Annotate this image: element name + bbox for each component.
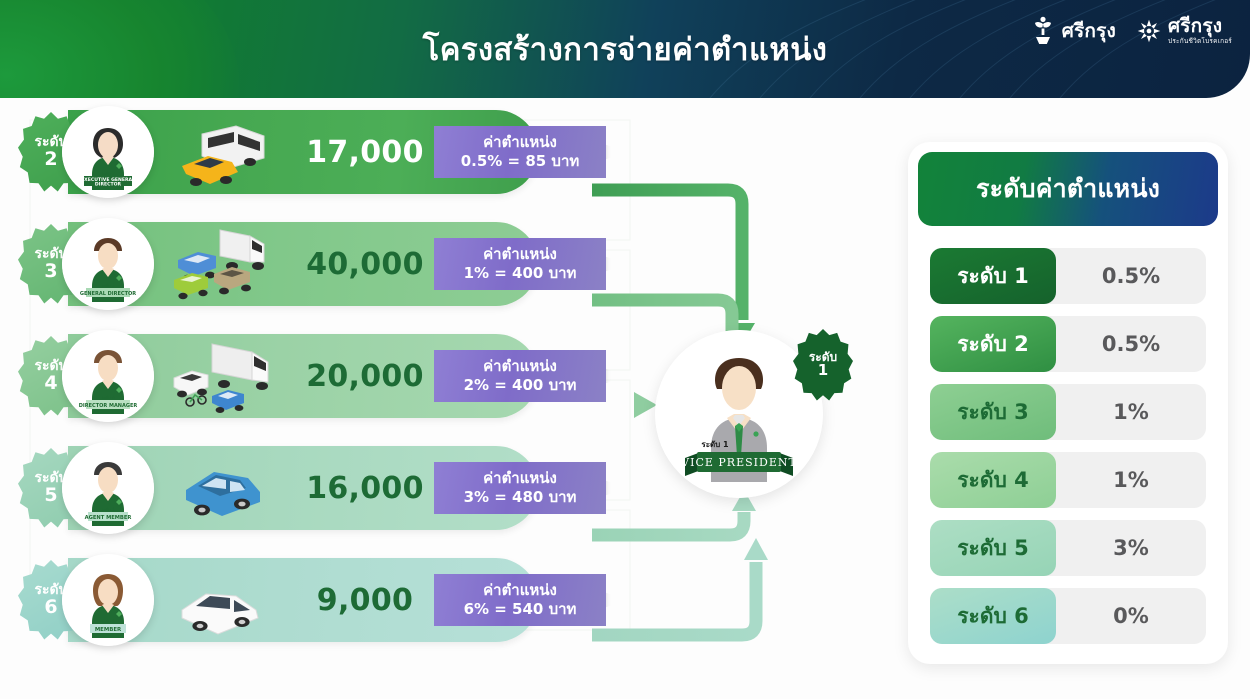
logo-subtitle: ประกันชีวิตโบรคเกอร์	[1168, 38, 1232, 45]
svg-text:DIRECTOR MANAGER: DIRECTOR MANAGER	[79, 403, 138, 409]
amount-value: 17,000	[290, 106, 440, 198]
fee-label: ค่าตำแหน่ง	[483, 357, 557, 376]
avatar-female-icon: ระดับ 6 MEMBER	[62, 554, 154, 646]
fee-value: 6% = 540 บาท	[464, 600, 577, 619]
logo-srikrung-broker: ศรีกรุง ประกันชีวิตโบรคเกอร์	[1136, 16, 1232, 46]
avatar: ระดับ 4 DIRECTOR MANAGER	[62, 330, 154, 422]
percent-value: 3%	[1056, 536, 1206, 560]
table-row[interactable]: ระดับ 4 1%	[930, 452, 1206, 508]
level-pill-label: ระดับ 3	[957, 396, 1028, 429]
avatar: ระดับ 2 EXECUTIVE GENERAL DIRECTOR	[62, 106, 154, 198]
avatar-male-icon: ระดับ 3 GENERAL DIRECTOR	[62, 218, 154, 310]
logo-name: ศรีกรุง	[1062, 22, 1116, 41]
fee-value: 3% = 480 บาท	[464, 488, 577, 507]
percent-value: 0.5%	[1056, 264, 1206, 288]
svg-text:ระดับ 4: ระดับ 4	[101, 395, 115, 400]
svg-text:ระดับ 5: ระดับ 5	[101, 507, 115, 512]
level-pill: ระดับ 2	[930, 316, 1056, 372]
sprout-icon	[1030, 16, 1056, 46]
level-pill: ระดับ 6	[930, 588, 1056, 644]
level-pill: ระดับ 5	[930, 520, 1056, 576]
blue-suv-icon	[168, 448, 296, 528]
fee-label: ค่าตำแหน่ง	[483, 469, 557, 488]
amount-value: 20,000	[290, 330, 440, 422]
van-and-taxi-icon	[168, 112, 296, 192]
percent-value: 1%	[1056, 400, 1206, 424]
level-pill-label: ระดับ 1	[957, 260, 1028, 293]
table-row[interactable]: ระดับ 2 0.5%	[930, 316, 1206, 372]
table-row[interactable]: ระดับ 1 0.5%	[930, 248, 1206, 304]
level-badge-number: 2	[44, 150, 57, 169]
logo-group: ศรีกรุง	[1030, 16, 1232, 46]
level-pill-label: ระดับ 6	[957, 600, 1028, 633]
svg-text:ระดับ 6: ระดับ 6	[101, 619, 115, 624]
percent-value: 0.5%	[1056, 332, 1206, 356]
position-fee-tag: ค่าตำแหน่ง 1% = 400 บาท	[434, 238, 606, 290]
level-badge-number: 3	[44, 262, 57, 281]
panel-rows: ระดับ 1 0.5% ระดับ 2 0.5% ระดับ 3 1% ระด…	[908, 226, 1228, 662]
svg-text:MEMBER: MEMBER	[95, 627, 122, 633]
avatar-male-dark-icon: ระดับ 5 AGENT MEMBER	[62, 442, 154, 534]
vp-title-text: VICE PRESIDENT	[680, 456, 797, 469]
amount-value: 40,000	[290, 218, 440, 310]
infographic-canvas: โครงสร้างการจ่ายค่าตำแหน่ง ศรีกรุง	[0, 0, 1250, 699]
vp-rank-label: ระดับ 1	[701, 440, 729, 449]
page-title: โครงสร้างการจ่ายค่าตำแหน่ง	[0, 0, 1250, 98]
position-fee-tag: ค่าตำแหน่ง 0.5% = 85 บาท	[434, 126, 606, 178]
level-fee-panel: ระดับค่าตำแหน่ง ระดับ 1 0.5% ระดับ 2 0.5…	[908, 142, 1228, 664]
table-row[interactable]: ระดับ 5 3%	[930, 520, 1206, 576]
position-fee-tag: ค่าตำแหน่ง 2% = 400 บาท	[434, 350, 606, 402]
avatar-rank-label: ระดับ 2	[101, 171, 115, 176]
level-badge-number: 4	[44, 374, 57, 393]
svg-text:DIRECTOR: DIRECTOR	[95, 182, 122, 188]
fee-label: ค่าตำแหน่ง	[483, 133, 557, 152]
table-row[interactable]: ระดับ 3 1%	[930, 384, 1206, 440]
fee-label: ค่าตำแหน่ง	[483, 245, 557, 264]
position-fee-tag: ค่าตำแหน่ง 6% = 540 บาท	[434, 574, 606, 626]
level-pill-label: ระดับ 5	[957, 532, 1028, 565]
fee-label: ค่าตำแหน่ง	[483, 581, 557, 600]
level-pill: ระดับ 3	[930, 384, 1056, 440]
position-fee-tag: ค่าตำแหน่ง 3% = 480 บาท	[434, 462, 606, 514]
panel-title: ระดับค่าตำแหน่ง	[918, 152, 1218, 226]
semi-truck-icon	[168, 336, 296, 416]
fee-value: 0.5% = 85 บาท	[461, 152, 580, 171]
level-rows: ระดับ 2 ระดับ 2 EXECUTIVE GENERAL DIRECT…	[0, 106, 660, 691]
percent-value: 1%	[1056, 468, 1206, 492]
logo-srikrung-primary: ศรีกรุง	[1030, 16, 1116, 46]
table-row[interactable]: ระดับ 6 0%	[930, 588, 1206, 644]
logo-name: ศรีกรุง	[1168, 17, 1232, 36]
white-sedan-icon	[168, 560, 296, 640]
avatar-male-light-icon: ระดับ 4 DIRECTOR MANAGER	[62, 330, 154, 422]
vp-badge-number: 1	[818, 363, 828, 379]
avatar-female-dark-icon: ระดับ 2 EXECUTIVE GENERAL DIRECTOR	[62, 106, 154, 198]
svg-text:ระดับ 3: ระดับ 3	[101, 283, 115, 288]
level-badge-number: 5	[44, 486, 57, 505]
level-pill: ระดับ 4	[930, 452, 1056, 508]
fee-value: 2% = 400 บาท	[464, 376, 577, 395]
percent-value: 0%	[1056, 604, 1206, 628]
avatar: ระดับ 6 MEMBER	[62, 554, 154, 646]
avatar: ระดับ 5 AGENT MEMBER	[62, 442, 154, 534]
avatar: ระดับ 3 GENERAL DIRECTOR	[62, 218, 154, 310]
truck-and-cars-icon	[168, 224, 296, 304]
level-pill-label: ระดับ 2	[957, 328, 1028, 361]
level-pill-label: ระดับ 4	[957, 464, 1028, 497]
level-pill: ระดับ 1	[930, 248, 1056, 304]
svg-text:GENERAL DIRECTOR: GENERAL DIRECTOR	[80, 291, 136, 297]
amount-value: 16,000	[290, 442, 440, 534]
amount-value: 9,000	[290, 554, 440, 646]
starburst-icon	[1136, 16, 1162, 46]
page-header: โครงสร้างการจ่ายค่าตำแหน่ง ศรีกรุง	[0, 0, 1250, 98]
svg-text:AGENT MEMBER: AGENT MEMBER	[85, 515, 132, 521]
fee-value: 1% = 400 บาท	[464, 264, 577, 283]
level-badge-number: 6	[44, 598, 57, 617]
